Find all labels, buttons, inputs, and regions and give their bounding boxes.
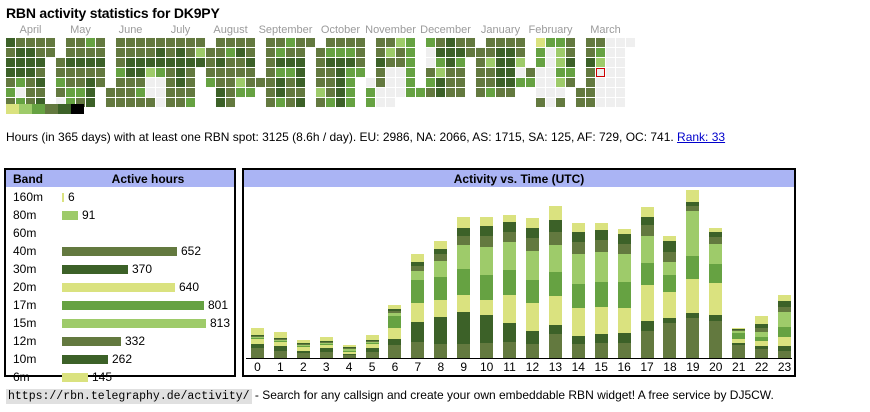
calendar-cell[interactable] (596, 88, 605, 97)
calendar-cell[interactable] (506, 58, 515, 67)
hour-bar[interactable] (709, 228, 722, 358)
calendar-cell[interactable] (616, 68, 625, 77)
calendar-cell[interactable] (436, 88, 445, 97)
calendar-cell[interactable] (166, 78, 175, 87)
calendar-cell[interactable] (486, 38, 495, 47)
calendar-cell[interactable] (216, 68, 225, 77)
calendar-cell[interactable] (226, 78, 235, 87)
calendar-cell[interactable] (246, 38, 255, 47)
calendar-cell[interactable] (396, 78, 405, 87)
calendar-cell[interactable] (616, 88, 625, 97)
calendar-cell[interactable] (86, 78, 95, 87)
calendar-cell[interactable] (456, 48, 465, 57)
hour-bar[interactable] (343, 345, 356, 358)
calendar-cell[interactable] (386, 68, 395, 77)
calendar-cell[interactable] (296, 68, 305, 77)
calendar-cell[interactable] (216, 88, 225, 97)
calendar-cell[interactable] (286, 48, 295, 57)
calendar-cell[interactable] (336, 48, 345, 57)
calendar-cell[interactable] (286, 88, 295, 97)
calendar-cell[interactable] (556, 68, 565, 77)
calendar-cell[interactable] (186, 68, 195, 77)
calendar-cell[interactable] (126, 98, 135, 107)
calendar-cell[interactable] (296, 58, 305, 67)
calendar-cell[interactable] (236, 78, 245, 87)
calendar-cell[interactable] (136, 88, 145, 97)
calendar-cell[interactable] (566, 78, 575, 87)
calendar-cell[interactable] (136, 78, 145, 87)
calendar-cell[interactable] (516, 78, 525, 87)
calendar-cell[interactable] (236, 48, 245, 57)
calendar-cell[interactable] (346, 58, 355, 67)
calendar-cell[interactable] (426, 38, 435, 47)
hour-bar[interactable] (526, 218, 539, 358)
calendar-cell[interactable] (596, 98, 605, 107)
hour-bar[interactable] (251, 328, 264, 358)
calendar-cell[interactable] (236, 88, 245, 97)
hour-bar[interactable] (320, 337, 333, 358)
calendar-cell[interactable] (446, 88, 455, 97)
calendar-cell[interactable] (246, 68, 255, 77)
calendar-cell[interactable] (226, 88, 235, 97)
calendar-cell[interactable] (596, 38, 605, 47)
calendar-cell[interactable] (476, 68, 485, 77)
calendar-cell[interactable] (126, 88, 135, 97)
calendar-cell[interactable] (16, 68, 25, 77)
calendar-cell[interactable] (96, 58, 105, 67)
hour-bar[interactable] (732, 328, 745, 358)
calendar-cell[interactable] (156, 58, 165, 67)
calendar-cell[interactable] (156, 48, 165, 57)
calendar-cell[interactable] (406, 68, 415, 77)
calendar-cell[interactable] (486, 68, 495, 77)
calendar-cell[interactable] (196, 48, 205, 57)
calendar-cell[interactable] (486, 88, 495, 97)
calendar-cell[interactable] (156, 68, 165, 77)
calendar-cell[interactable] (276, 58, 285, 67)
calendar-cell[interactable] (506, 48, 515, 57)
calendar-cell[interactable] (316, 88, 325, 97)
calendar-cell[interactable] (486, 48, 495, 57)
calendar-cell[interactable] (386, 78, 395, 87)
calendar-cell[interactable] (276, 48, 285, 57)
calendar-cell[interactable] (16, 58, 25, 67)
calendar-cell[interactable] (536, 68, 545, 77)
calendar-cell[interactable] (496, 48, 505, 57)
calendar-cell[interactable] (406, 48, 415, 57)
calendar-cell[interactable] (266, 48, 275, 57)
calendar-cell[interactable] (586, 98, 595, 107)
calendar-cell[interactable] (426, 58, 435, 67)
hour-bar[interactable] (366, 335, 379, 358)
calendar-cell[interactable] (516, 68, 525, 77)
calendar-cell[interactable] (586, 88, 595, 97)
calendar-cell[interactable] (146, 38, 155, 47)
calendar-cell[interactable] (286, 38, 295, 47)
calendar-cell[interactable] (76, 68, 85, 77)
calendar-cell[interactable] (566, 48, 575, 57)
calendar-cell[interactable] (66, 68, 75, 77)
calendar-cell[interactable] (266, 68, 275, 77)
calendar-cell[interactable] (546, 58, 555, 67)
calendar-cell[interactable] (186, 38, 195, 47)
calendar-cell[interactable] (206, 68, 215, 77)
calendar-cell[interactable] (216, 98, 225, 107)
calendar-cell[interactable] (276, 78, 285, 87)
calendar-cell[interactable] (376, 48, 385, 57)
calendar-cell[interactable] (106, 98, 115, 107)
calendar-cell[interactable] (16, 38, 25, 47)
calendar-cell[interactable] (376, 98, 385, 107)
calendar-cell[interactable] (166, 68, 175, 77)
calendar-cell[interactable] (566, 58, 575, 67)
calendar-cell[interactable] (286, 68, 295, 77)
calendar-cell[interactable] (66, 78, 75, 87)
calendar-cell[interactable] (316, 58, 325, 67)
calendar-cell-today[interactable] (596, 68, 605, 77)
calendar-cell[interactable] (326, 48, 335, 57)
calendar-cell[interactable] (116, 38, 125, 47)
calendar-cell[interactable] (176, 58, 185, 67)
calendar-cell[interactable] (456, 88, 465, 97)
calendar-cell[interactable] (286, 58, 295, 67)
calendar-cell[interactable] (316, 68, 325, 77)
calendar-cell[interactable] (356, 48, 365, 57)
calendar-cell[interactable] (586, 68, 595, 77)
calendar-cell[interactable] (376, 88, 385, 97)
calendar-cell[interactable] (536, 88, 545, 97)
calendar-cell[interactable] (316, 98, 325, 107)
calendar-cell[interactable] (36, 48, 45, 57)
calendar-cell[interactable] (126, 58, 135, 67)
calendar-cell[interactable] (386, 58, 395, 67)
calendar-cell[interactable] (336, 38, 345, 47)
calendar-cell[interactable] (166, 98, 175, 107)
calendar-cell[interactable] (436, 58, 445, 67)
calendar-cell[interactable] (6, 48, 15, 57)
calendar-cell[interactable] (126, 48, 135, 57)
calendar-cell[interactable] (606, 58, 615, 67)
calendar-cell[interactable] (376, 78, 385, 87)
calendar-cell[interactable] (216, 58, 225, 67)
calendar-cell[interactable] (286, 98, 295, 107)
calendar-cell[interactable] (436, 38, 445, 47)
calendar-cell[interactable] (36, 58, 45, 67)
calendar-cell[interactable] (206, 78, 215, 87)
calendar-cell[interactable] (596, 58, 605, 67)
calendar-cell[interactable] (106, 88, 115, 97)
calendar-cell[interactable] (566, 68, 575, 77)
calendar-cell[interactable] (166, 38, 175, 47)
calendar-cell[interactable] (556, 78, 565, 87)
calendar-cell[interactable] (56, 88, 65, 97)
calendar-cell[interactable] (516, 58, 525, 67)
calendar-cell[interactable] (326, 68, 335, 77)
calendar-cell[interactable] (116, 48, 125, 57)
hour-bar[interactable] (549, 206, 562, 358)
calendar-cell[interactable] (186, 48, 195, 57)
calendar-cell[interactable] (436, 48, 445, 57)
calendar-cell[interactable] (406, 88, 415, 97)
calendar-cell[interactable] (226, 38, 235, 47)
calendar-cell[interactable] (196, 38, 205, 47)
calendar-cell[interactable] (186, 58, 195, 67)
calendar-cell[interactable] (56, 68, 65, 77)
calendar-cell[interactable] (6, 38, 15, 47)
calendar-cell[interactable] (36, 38, 45, 47)
calendar-cell[interactable] (126, 68, 135, 77)
calendar-cell[interactable] (406, 38, 415, 47)
calendar-cell[interactable] (136, 38, 145, 47)
calendar-cell[interactable] (116, 98, 125, 107)
calendar-cell[interactable] (46, 48, 55, 57)
calendar-cell[interactable] (496, 68, 505, 77)
calendar-cell[interactable] (316, 48, 325, 57)
calendar-cell[interactable] (356, 68, 365, 77)
calendar-cell[interactable] (506, 78, 515, 87)
calendar-cell[interactable] (276, 88, 285, 97)
calendar-cell[interactable] (456, 68, 465, 77)
calendar-cell[interactable] (306, 38, 315, 47)
calendar-cell[interactable] (536, 38, 545, 47)
calendar-cell[interactable] (366, 78, 375, 87)
calendar-cell[interactable] (146, 98, 155, 107)
calendar-cell[interactable] (556, 38, 565, 47)
calendar-cell[interactable] (426, 48, 435, 57)
calendar-cell[interactable] (396, 38, 405, 47)
calendar-cell[interactable] (156, 38, 165, 47)
calendar-cell[interactable] (496, 58, 505, 67)
calendar-cell[interactable] (516, 38, 525, 47)
calendar-cell[interactable] (326, 58, 335, 67)
calendar-cell[interactable] (56, 78, 65, 87)
calendar-cell[interactable] (386, 98, 395, 107)
calendar-cell[interactable] (446, 78, 455, 87)
calendar-cell[interactable] (26, 78, 35, 87)
calendar-cell[interactable] (296, 98, 305, 107)
calendar-cell[interactable] (6, 68, 15, 77)
calendar-cell[interactable] (346, 88, 355, 97)
calendar-cell[interactable] (46, 38, 55, 47)
calendar-cell[interactable] (506, 38, 515, 47)
calendar-cell[interactable] (336, 88, 345, 97)
calendar-cell[interactable] (606, 98, 615, 107)
calendar-cell[interactable] (606, 68, 615, 77)
calendar-cell[interactable] (216, 38, 225, 47)
calendar-cell[interactable] (446, 48, 455, 57)
calendar-cell[interactable] (616, 48, 625, 57)
calendar-cell[interactable] (116, 88, 125, 97)
calendar-cell[interactable] (96, 48, 105, 57)
calendar-cell[interactable] (616, 38, 625, 47)
calendar-cell[interactable] (176, 98, 185, 107)
calendar-cell[interactable] (336, 98, 345, 107)
calendar-cell[interactable] (136, 98, 145, 107)
calendar-cell[interactable] (156, 78, 165, 87)
calendar-cell[interactable] (476, 88, 485, 97)
calendar-cell[interactable] (336, 68, 345, 77)
calendar-cell[interactable] (246, 58, 255, 67)
calendar-cell[interactable] (246, 48, 255, 57)
calendar-cell[interactable] (76, 48, 85, 57)
hour-bar[interactable] (663, 236, 676, 358)
calendar-cell[interactable] (456, 38, 465, 47)
calendar-cell[interactable] (586, 48, 595, 57)
calendar-cell[interactable] (556, 88, 565, 97)
calendar-cell[interactable] (546, 38, 555, 47)
widget-url-link[interactable]: https://rbn.telegraphy.de/activity/ (6, 389, 252, 404)
calendar-cell[interactable] (506, 88, 515, 97)
calendar-cell[interactable] (336, 78, 345, 87)
calendar-cell[interactable] (556, 58, 565, 67)
calendar-cell[interactable] (76, 38, 85, 47)
calendar-cell[interactable] (516, 48, 525, 57)
calendar-cell[interactable] (296, 78, 305, 87)
calendar-cell[interactable] (26, 48, 35, 57)
calendar-cell[interactable] (606, 78, 615, 87)
calendar-cell[interactable] (546, 98, 555, 107)
calendar-cell[interactable] (6, 88, 15, 97)
calendar-cell[interactable] (166, 88, 175, 97)
calendar-cell[interactable] (526, 68, 535, 77)
calendar-cell[interactable] (136, 68, 145, 77)
calendar-cell[interactable] (86, 68, 95, 77)
calendar-cell[interactable] (496, 88, 505, 97)
calendar-cell[interactable] (176, 68, 185, 77)
calendar-cell[interactable] (236, 68, 245, 77)
calendar-cell[interactable] (376, 68, 385, 77)
hour-bar[interactable] (411, 254, 424, 358)
hour-bar[interactable] (274, 332, 287, 358)
calendar-cell[interactable] (276, 38, 285, 47)
calendar-cell[interactable] (36, 68, 45, 77)
calendar-cell[interactable] (326, 78, 335, 87)
calendar-cell[interactable] (76, 88, 85, 97)
calendar-cell[interactable] (336, 58, 345, 67)
calendar-cell[interactable] (166, 48, 175, 57)
calendar-cell[interactable] (66, 58, 75, 67)
calendar-cell[interactable] (546, 78, 555, 87)
calendar-cell[interactable] (616, 78, 625, 87)
calendar-cell[interactable] (136, 58, 145, 67)
calendar-cell[interactable] (616, 98, 625, 107)
calendar-cell[interactable] (606, 88, 615, 97)
calendar-cell[interactable] (356, 38, 365, 47)
calendar-cell[interactable] (206, 48, 215, 57)
hour-bar[interactable] (297, 340, 310, 358)
calendar-cell[interactable] (496, 38, 505, 47)
calendar-cell[interactable] (536, 78, 545, 87)
calendar-cell[interactable] (426, 78, 435, 87)
calendar-cell[interactable] (86, 48, 95, 57)
calendar-cell[interactable] (476, 48, 485, 57)
calendar-cell[interactable] (326, 98, 335, 107)
calendar-cell[interactable] (486, 78, 495, 87)
hour-bar[interactable] (755, 316, 768, 358)
calendar-cell[interactable] (586, 78, 595, 87)
calendar-cell[interactable] (116, 78, 125, 87)
calendar-cell[interactable] (596, 48, 605, 57)
calendar-cell[interactable] (456, 78, 465, 87)
calendar-cell[interactable] (386, 88, 395, 97)
calendar-cell[interactable] (446, 68, 455, 77)
hour-bar[interactable] (480, 217, 493, 358)
calendar-cell[interactable] (176, 38, 185, 47)
calendar-cell[interactable] (66, 38, 75, 47)
calendar-cell[interactable] (116, 58, 125, 67)
calendar-cell[interactable] (586, 38, 595, 47)
calendar-cell[interactable] (6, 58, 15, 67)
hour-bar[interactable] (595, 223, 608, 358)
calendar-cell[interactable] (96, 78, 105, 87)
calendar-cell[interactable] (146, 68, 155, 77)
calendar-cell[interactable] (346, 78, 355, 87)
calendar-cell[interactable] (206, 58, 215, 67)
calendar-cell[interactable] (396, 48, 405, 57)
calendar-cell[interactable] (376, 38, 385, 47)
calendar-cell[interactable] (346, 68, 355, 77)
calendar-cell[interactable] (486, 58, 495, 67)
calendar-cell[interactable] (546, 48, 555, 57)
calendar-cell[interactable] (386, 38, 395, 47)
calendar-cell[interactable] (536, 98, 545, 107)
calendar-cell[interactable] (116, 68, 125, 77)
calendar-cell[interactable] (366, 88, 375, 97)
calendar-cell[interactable] (326, 88, 335, 97)
calendar-cell[interactable] (316, 78, 325, 87)
calendar-cell[interactable] (26, 38, 35, 47)
rank-link[interactable]: Rank: 33 (677, 130, 725, 144)
calendar-cell[interactable] (146, 48, 155, 57)
calendar-cell[interactable] (426, 88, 435, 97)
calendar-cell[interactable] (586, 58, 595, 67)
calendar-cell[interactable] (26, 68, 35, 77)
calendar-cell[interactable] (286, 78, 295, 87)
calendar-cell[interactable] (396, 58, 405, 67)
calendar-cell[interactable] (556, 48, 565, 57)
calendar-cell[interactable] (436, 78, 445, 87)
calendar-cell[interactable] (466, 38, 475, 47)
calendar-cell[interactable] (176, 48, 185, 57)
calendar-cell[interactable] (176, 88, 185, 97)
calendar-cell[interactable] (226, 98, 235, 107)
calendar-cell[interactable] (386, 48, 395, 57)
calendar-cell[interactable] (86, 38, 95, 47)
calendar-cell[interactable] (436, 68, 445, 77)
calendar-cell[interactable] (446, 38, 455, 47)
calendar-cell[interactable] (326, 38, 335, 47)
calendar-cell[interactable] (296, 38, 305, 47)
calendar-cell[interactable] (606, 48, 615, 57)
calendar-cell[interactable] (26, 58, 35, 67)
hour-bar[interactable] (503, 215, 516, 358)
calendar-cell[interactable] (236, 38, 245, 47)
calendar-cell[interactable] (226, 58, 235, 67)
calendar-cell[interactable] (246, 88, 255, 97)
calendar-cell[interactable] (86, 88, 95, 97)
calendar-cell[interactable] (166, 58, 175, 67)
calendar-cell[interactable] (456, 58, 465, 67)
calendar-cell[interactable] (216, 78, 225, 87)
calendar-cell[interactable] (276, 68, 285, 77)
calendar-cell[interactable] (86, 58, 95, 67)
calendar-cell[interactable] (126, 78, 135, 87)
calendar-cell[interactable] (396, 68, 405, 77)
calendar-cell[interactable] (576, 98, 585, 107)
calendar-cell[interactable] (296, 48, 305, 57)
calendar-cell[interactable] (406, 58, 415, 67)
calendar-cell[interactable] (176, 78, 185, 87)
